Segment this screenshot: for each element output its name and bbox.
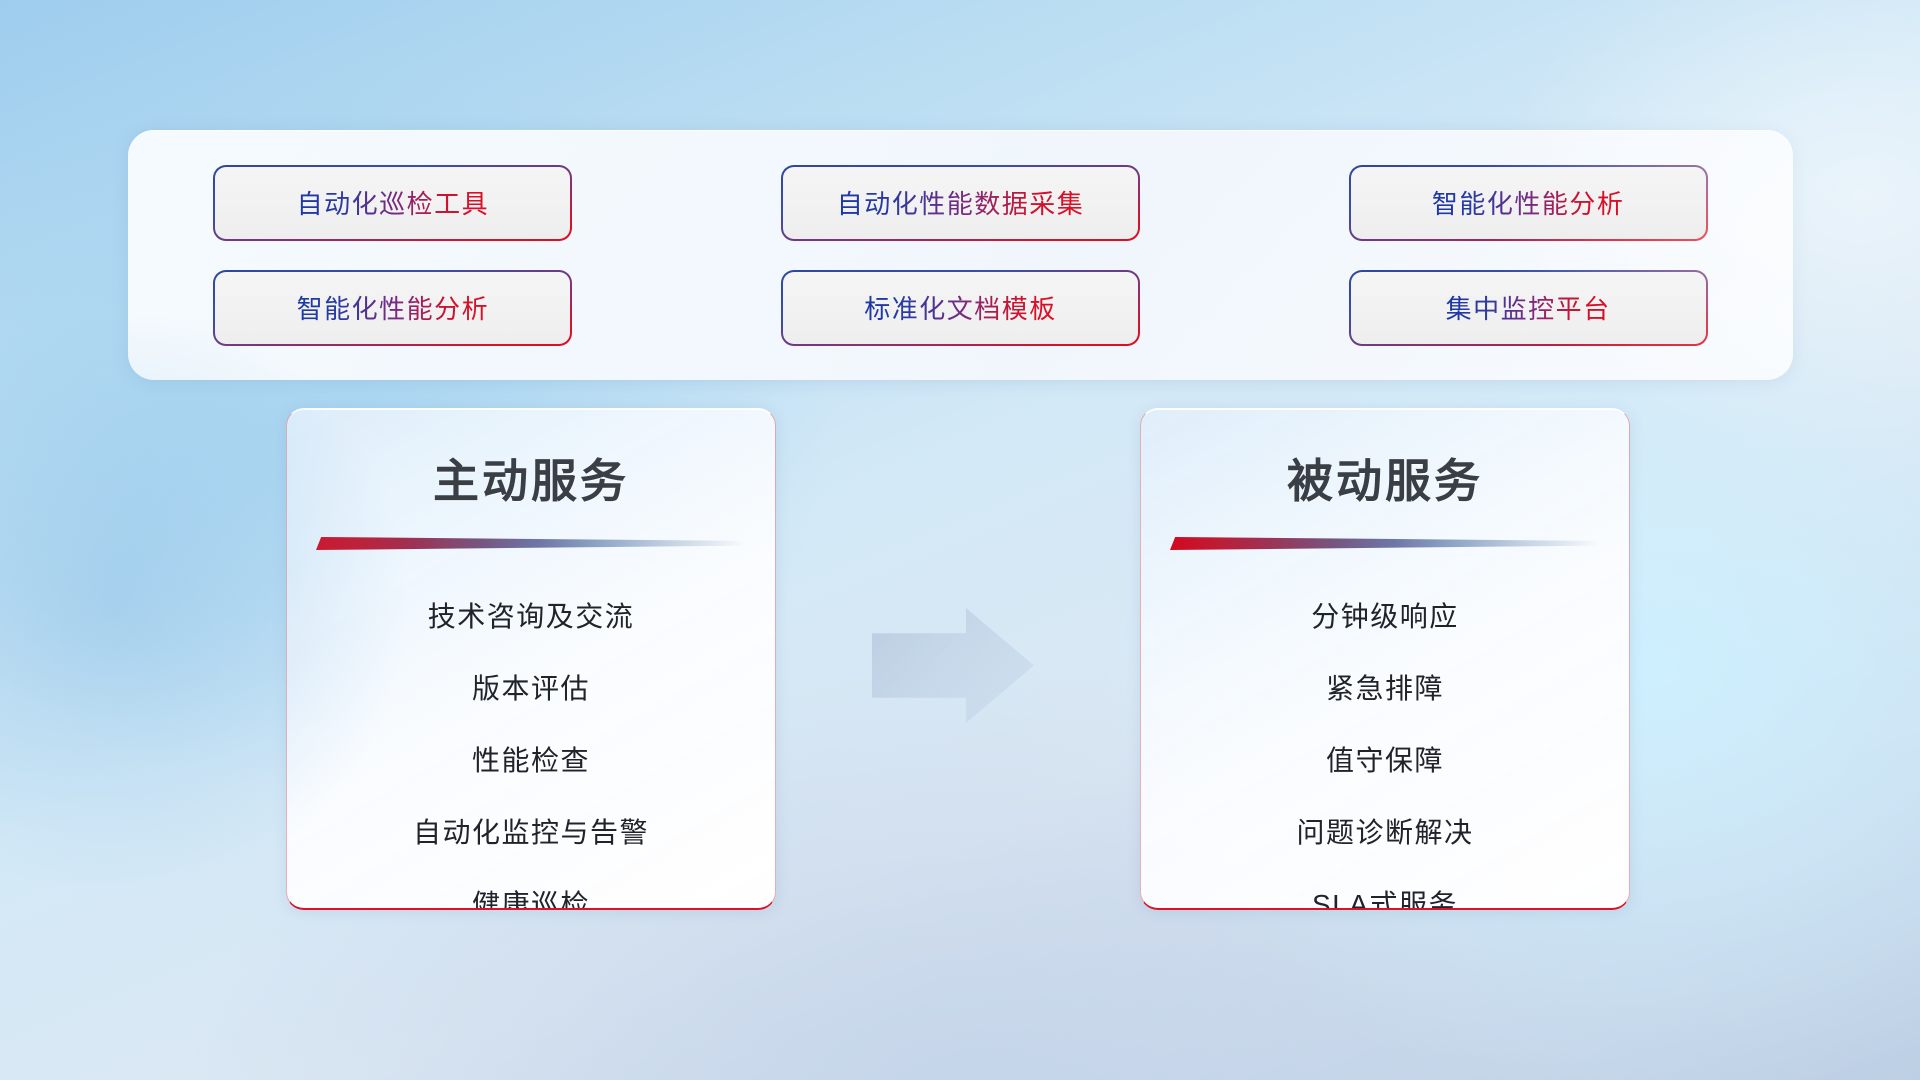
capability-chip[interactable]: 标准化文档模板 — [783, 272, 1138, 344]
list-item: 紧急排障 — [1326, 653, 1444, 725]
list-item: 分钟级响应 — [1311, 581, 1459, 653]
capability-chip-label: 标准化文档模板 — [864, 289, 1057, 326]
diagram-canvas: 自动化巡检工具 自动化性能数据采集 智能化性能分析 智能化性能分析 标准化文档模… — [0, 0, 1920, 1080]
service-card-reactive: 被动服务 分钟级响应 紧急排障 值守保障 问题诊断解决 SLA式服务 — [1140, 408, 1630, 910]
list-item: SLA式服务 — [1312, 869, 1458, 910]
capability-panel: 自动化巡检工具 自动化性能数据采集 智能化性能分析 智能化性能分析 标准化文档模… — [128, 130, 1793, 380]
right-arrow-icon — [872, 608, 1034, 723]
capability-chip[interactable]: 智能化性能分析 — [1351, 167, 1706, 239]
capability-chip-label: 自动化巡检工具 — [297, 184, 490, 221]
card-divider — [1170, 537, 1600, 551]
capability-chip-label: 智能化性能分析 — [297, 289, 490, 326]
list-item: 版本评估 — [472, 653, 590, 725]
capability-chip-label: 自动化性能数据采集 — [837, 184, 1085, 221]
card-divider — [316, 537, 746, 551]
list-item: 问题诊断解决 — [1296, 797, 1473, 869]
capability-chip[interactable]: 自动化巡检工具 — [215, 167, 570, 239]
gradient-rule-icon — [1170, 537, 1600, 550]
capability-chip[interactable]: 智能化性能分析 — [215, 272, 570, 344]
list-item: 健康巡检 — [472, 869, 590, 910]
gradient-rule-icon — [316, 537, 746, 550]
capability-chip-label: 集中监控平台 — [1446, 289, 1611, 326]
card-title: 主动服务 — [287, 445, 775, 511]
capability-chip[interactable]: 集中监控平台 — [1351, 272, 1706, 344]
list-item: 值守保障 — [1326, 725, 1444, 797]
card-item-list: 技术咨询及交流 版本评估 性能检查 自动化监控与告警 健康巡检 — [287, 581, 775, 910]
service-card-proactive: 主动服务 技术咨询及交流 版本评估 性能检查 自动化监控与告警 健康巡检 — [286, 408, 776, 910]
capability-chip[interactable]: 自动化性能数据采集 — [783, 167, 1138, 239]
capability-chip-label: 智能化性能分析 — [1432, 184, 1625, 221]
card-title: 被动服务 — [1141, 445, 1629, 511]
list-item: 性能检查 — [472, 725, 590, 797]
list-item: 技术咨询及交流 — [428, 581, 635, 653]
list-item: 自动化监控与告警 — [413, 797, 649, 869]
card-item-list: 分钟级响应 紧急排障 值守保障 问题诊断解决 SLA式服务 — [1141, 581, 1629, 910]
